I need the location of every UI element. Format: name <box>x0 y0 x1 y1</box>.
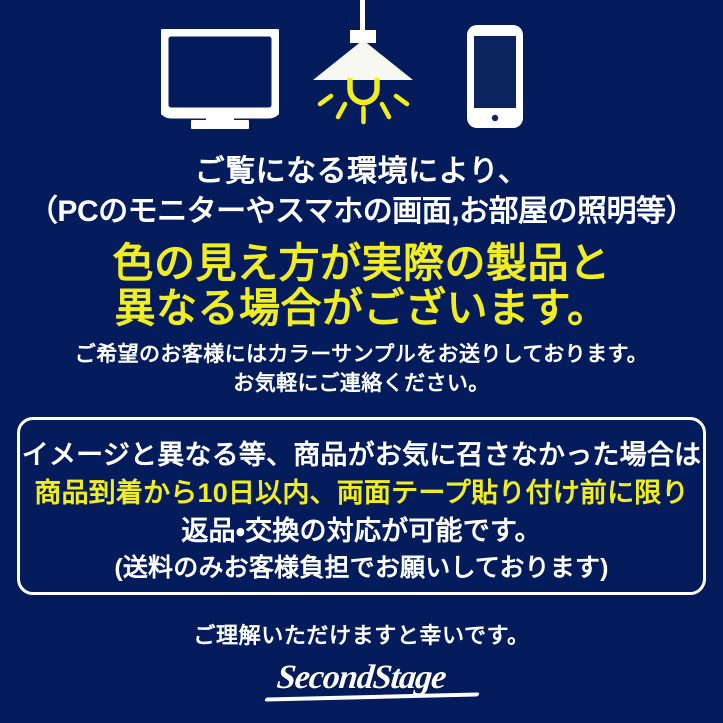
return-policy-line-3: 返品・交換の対応が可能です。 <box>20 518 703 545</box>
closing-text: ご理解いただけますと幸いです。 <box>0 625 723 647</box>
smartphone-icon <box>466 24 524 134</box>
return-policy-line-2: 商品到着から10日以内、両面テープ貼り付け前に限り <box>20 480 703 507</box>
color-sample-note-line-1: ご希望のお客様にはカラーサンプルをお送りしております。 <box>0 344 723 365</box>
headline-line-2: 異なる場合がございます。 <box>0 288 723 329</box>
color-sample-note-line-2: お気軽にご連絡ください。 <box>0 373 723 394</box>
return-policy-line-1: イメージと異なる等、商品がお気に召さなかった場合は <box>20 442 703 469</box>
pendant-lamp-icon <box>305 0 423 138</box>
brand-logo-text: SecondStage <box>275 661 447 695</box>
brand-logo: SecondStage <box>0 661 723 695</box>
monitor-icon <box>161 29 279 134</box>
intro-lead-text: ご覧になる環境により、 <box>0 157 723 187</box>
intro-parenthetical-text: （PCのモニターやスマホの画面,お部屋の照明等） <box>0 197 723 227</box>
brand-logo-label: SecondStage <box>275 659 447 696</box>
headline-line-1: 色の見え方が実際の製品と <box>0 243 723 284</box>
promo-banner: ご覧になる環境により、 （PCのモニターやスマホの画面,お部屋の照明等） 色の見… <box>0 0 723 723</box>
return-policy-box: イメージと異なる等、商品がお気に召さなかった場合は 商品到着から10日以内、両面… <box>17 417 706 595</box>
return-policy-line-4: (送料のみお客様負担でお願いしております) <box>20 556 703 581</box>
device-icon-strip <box>0 0 723 145</box>
